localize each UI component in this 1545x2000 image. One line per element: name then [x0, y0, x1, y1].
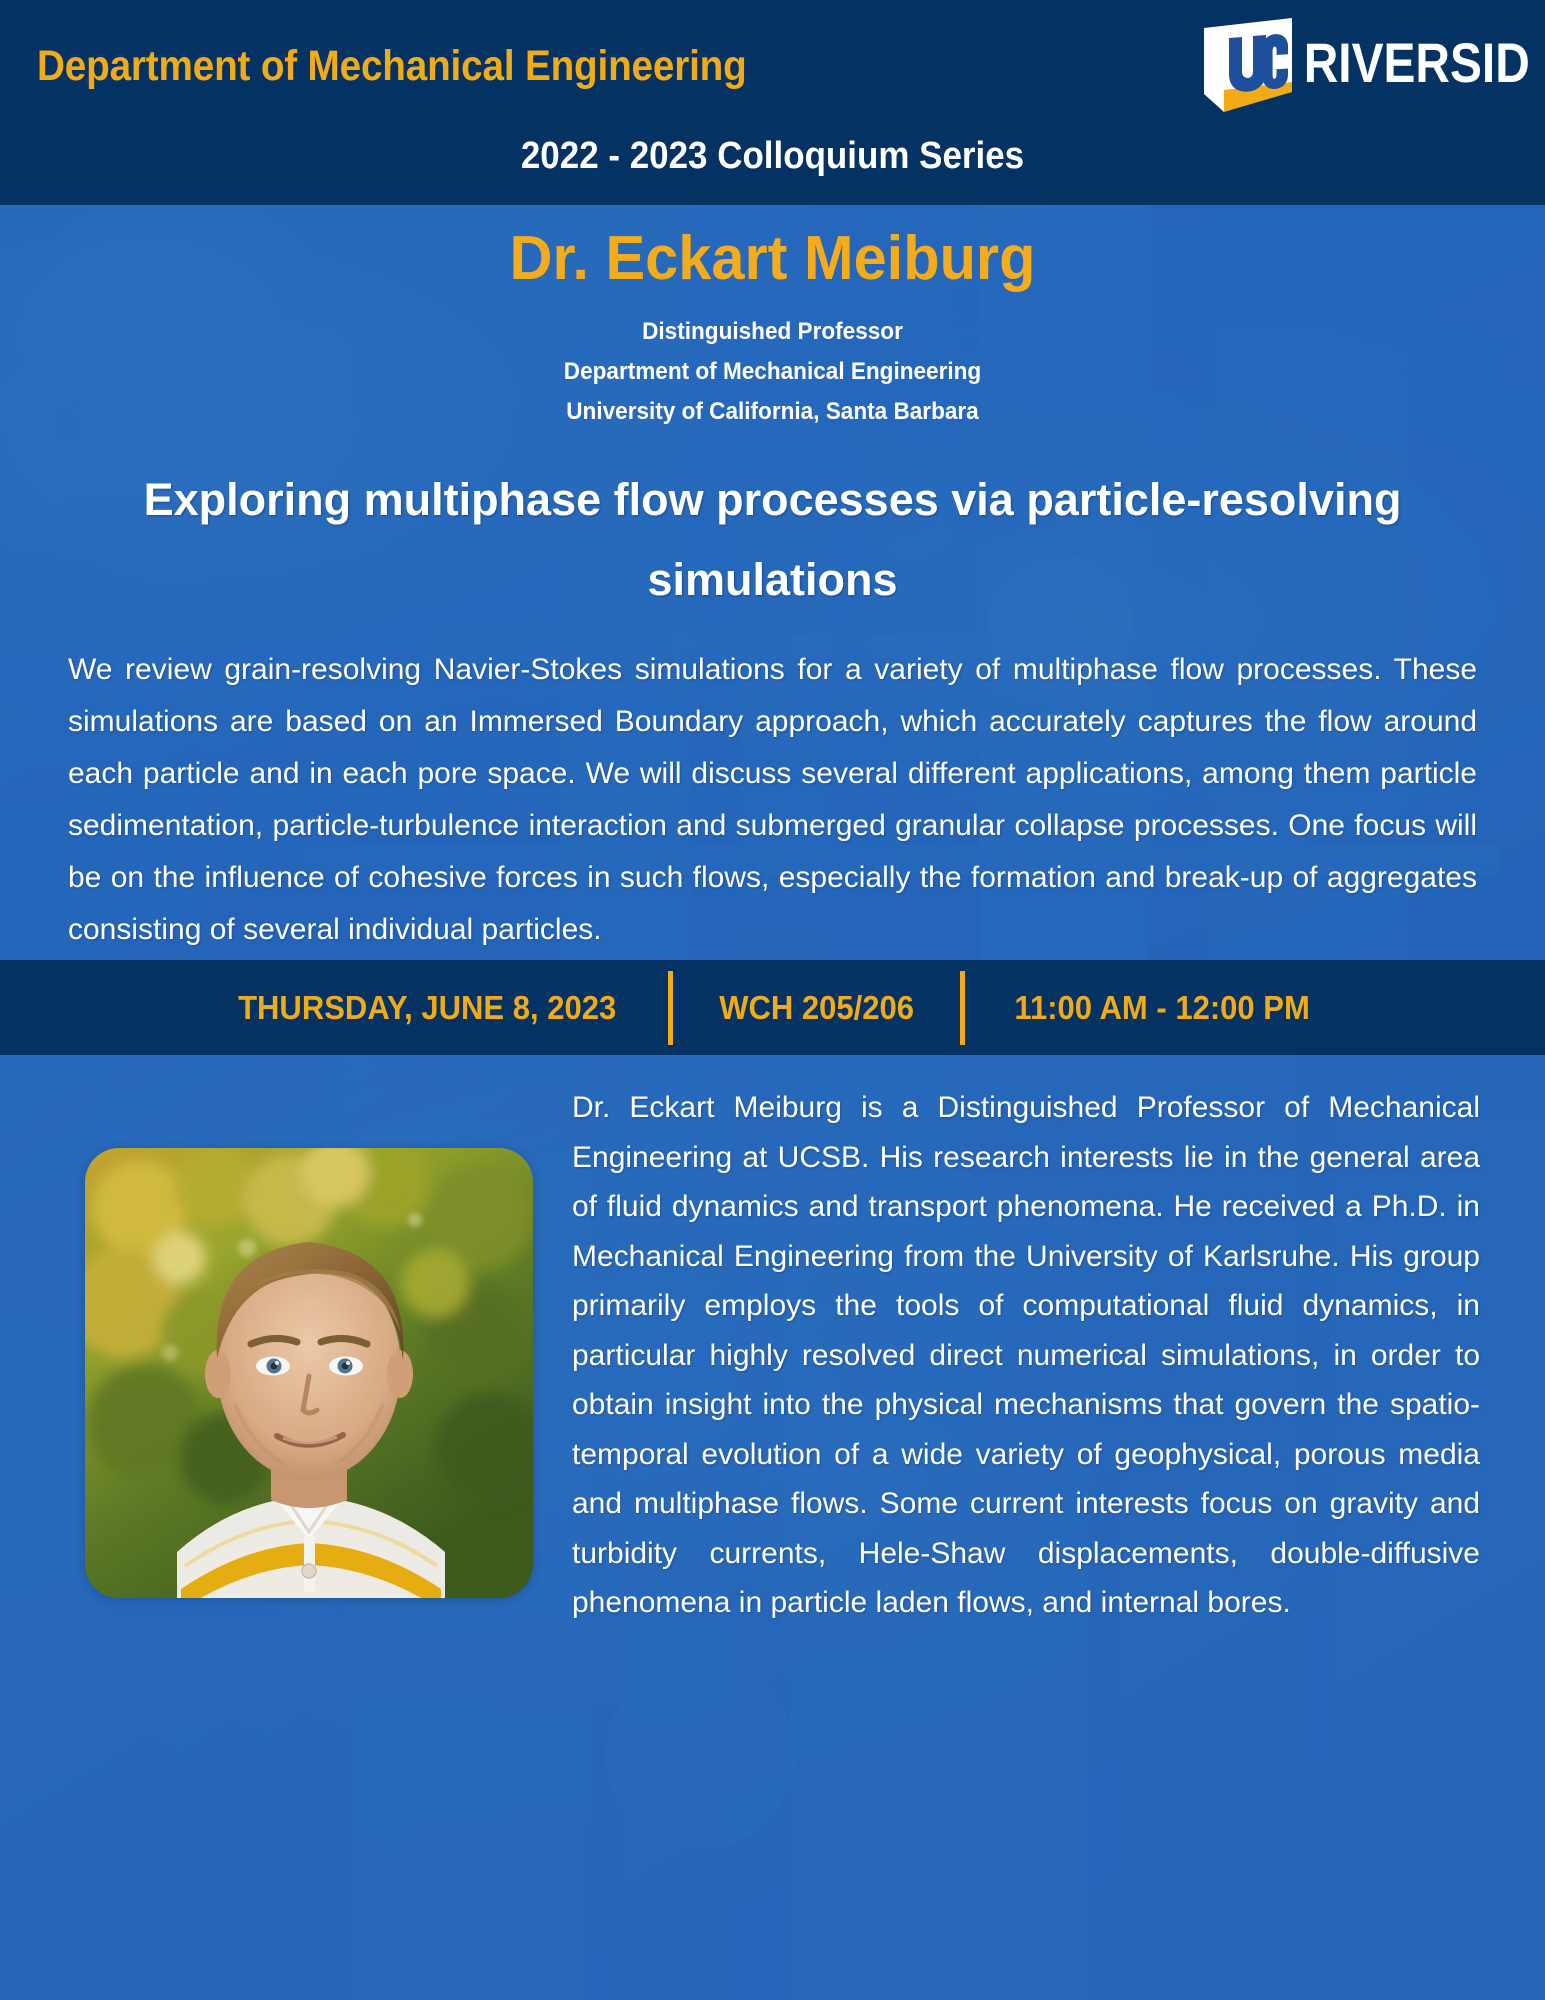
event-location: WCH 205/206 [682, 989, 952, 1027]
talk-title: Exploring multiphase flow processes via … [96, 460, 1449, 620]
talk-abstract: We review grain-resolving Navier-Stokes … [68, 644, 1477, 956]
detail-separator-1 [668, 971, 673, 1045]
flyer-bio-section: Dr. Eckart Meiburg is a Distinguished Pr… [0, 1055, 1545, 2000]
detail-separator-2 [960, 971, 965, 1045]
colloquium-series-title: 2022 - 2023 Colloquium Series [62, 135, 1483, 178]
flyer-header: Department of Mechanical Engineering 202… [0, 0, 1545, 205]
speaker-institution: University of California, Santa Barbara [46, 392, 1498, 432]
event-date: THURSDAY, JUNE 8, 2023 [200, 989, 653, 1027]
flyer-main-section: Dr. Eckart Meiburg Distinguished Profess… [0, 205, 1545, 960]
speaker-affiliation: Distinguished Professor Department of Me… [46, 312, 1498, 432]
speaker-portrait [85, 1148, 533, 1598]
event-details-bar: THURSDAY, JUNE 8, 2023 WCH 205/206 11:00… [0, 960, 1545, 1055]
speaker-department: Department of Mechanical Engineering [46, 352, 1498, 392]
speaker-bio: Dr. Eckart Meiburg is a Distinguished Pr… [572, 1083, 1480, 1628]
event-time: 11:00 AM - 12:00 PM [977, 989, 1348, 1027]
colloquium-flyer: Department of Mechanical Engineering 202… [0, 0, 1545, 2000]
speaker-name: Dr. Eckart Meiburg [31, 205, 1514, 294]
speaker-title: Distinguished Professor [46, 312, 1498, 352]
uc-riverside-logo: RIVERSIDE [1196, 14, 1531, 114]
department-title: Department of Mechanical Engineering [37, 42, 747, 91]
riverside-wordmark: RIVERSIDE [1304, 33, 1531, 95]
